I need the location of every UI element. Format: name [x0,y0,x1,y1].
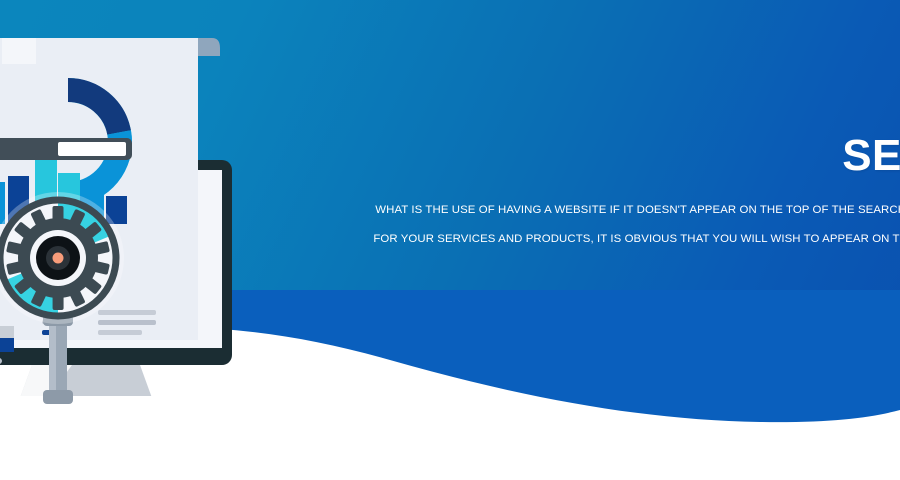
subcopy-line-2: FOR YOUR SERVICES AND PRODUCTS, IT IS OB… [200,225,900,254]
monitor-stand [2,365,172,406]
search-bar [0,138,132,160]
seo-banner: SEO A WHAT IS THE USE OF HAVING A WEBSIT… [0,0,900,480]
page-title: SEO A [460,134,900,178]
subcopy-line-1: WHAT IS THE USE OF HAVING A WEBSITE IF I… [200,196,900,225]
banner-subcopy: WHAT IS THE USE OF HAVING A WEBSITE IF I… [200,196,900,254]
